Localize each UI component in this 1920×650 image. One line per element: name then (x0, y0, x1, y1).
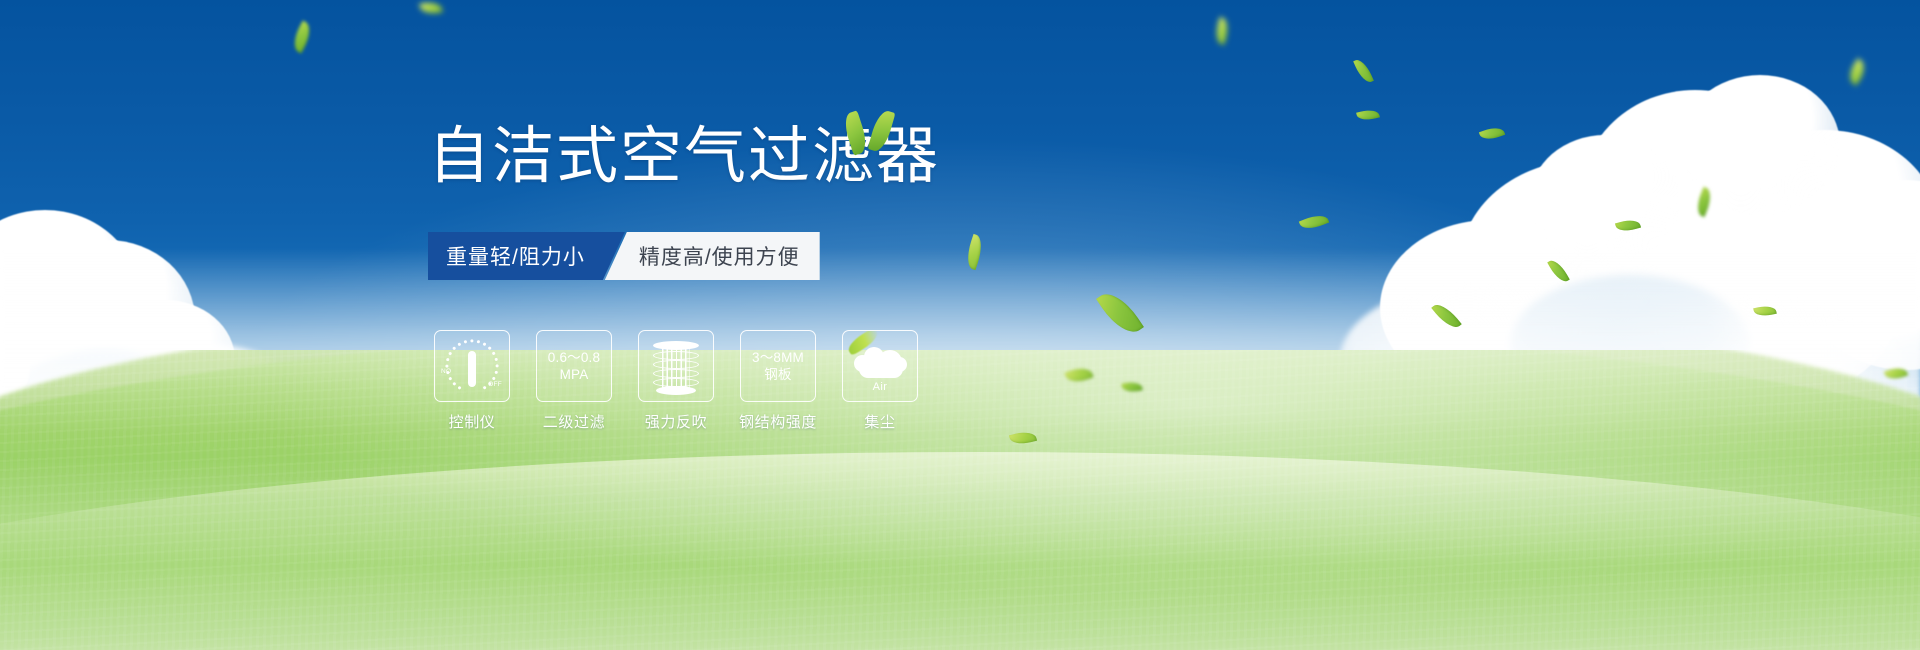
feature-two-stage-filter[interactable]: 0.6〜0.8 MPA 二级过滤 (536, 330, 612, 432)
cloud-air-icon: Air (850, 341, 910, 391)
hero-copy: 自洁式空气过滤器 重量轻/阻力小 精度高/使用方便 (0, 0, 1920, 650)
tab-precision-convenience[interactable]: 精度高/使用方便 (605, 232, 820, 280)
steel-thickness-line2: 钢板 (764, 366, 791, 383)
leaf-sprout-icon (843, 108, 903, 158)
feature-pulse-jet[interactable]: 强力反吹 (638, 330, 714, 432)
pleated-coil-icon (651, 339, 701, 393)
gauge-on-label: NO (441, 368, 451, 375)
feature-dust-collection-box[interactable]: Air (842, 330, 918, 402)
feature-steel-strength[interactable]: 3〜8MM 钢板 钢结构强度 (740, 330, 816, 432)
feature-controller[interactable]: NO OFF 控制仪 (434, 330, 510, 432)
feature-pulse-jet-box[interactable] (638, 330, 714, 402)
gauge-off-label: OFF (488, 381, 502, 388)
feature-two-stage-filter-box[interactable]: 0.6〜0.8 MPA (536, 330, 612, 402)
feature-tabs: 重量轻/阻力小 精度高/使用方便 (428, 232, 820, 280)
cloud-base (859, 363, 903, 378)
feature-two-stage-filter-label: 二级过滤 (543, 411, 605, 432)
steel-thickness-line1: 3〜8MM (752, 349, 804, 366)
hero-banner: 自洁式空气过滤器 重量轻/阻力小 精度高/使用方便 (0, 0, 1920, 650)
sprout-leaf-right (868, 108, 896, 153)
air-label: Air (850, 381, 910, 393)
feature-dust-collection[interactable]: Air 集尘 (842, 330, 918, 432)
pressure-value-line1: 0.6〜0.8 (548, 349, 600, 366)
feature-controller-label: 控制仪 (449, 411, 496, 432)
feature-pulse-jet-label: 强力反吹 (645, 411, 707, 432)
feature-steel-strength-label: 钢结构强度 (739, 411, 817, 432)
gauge-needle (468, 351, 476, 387)
sprout-leaf-left (841, 110, 870, 155)
feature-controller-box[interactable]: NO OFF (434, 330, 510, 402)
feature-dust-collection-label: 集尘 (864, 411, 895, 432)
pressure-value-line2: MPA (560, 366, 589, 383)
feature-steel-strength-box[interactable]: 3〜8MM 钢板 (740, 330, 816, 402)
feature-icon-row: NO OFF 控制仪 0.6〜0.8 MPA 二级过滤 (434, 330, 918, 432)
tab-weight-resistance[interactable]: 重量轻/阻力小 (428, 232, 625, 280)
gauge-dial-icon: NO OFF (441, 338, 503, 394)
